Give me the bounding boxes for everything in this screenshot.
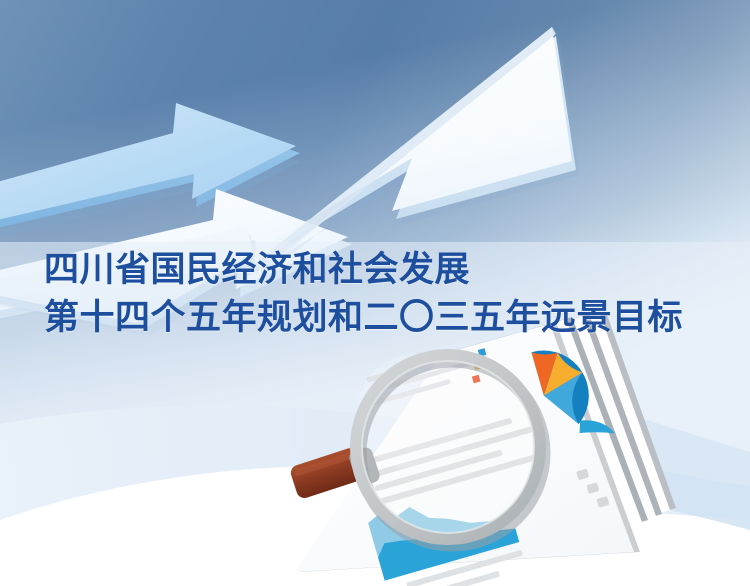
page-title: 四川省国民经济和社会发展 第十四个五年规划和二〇三五年远景目标 [44, 246, 734, 342]
title-line-2: 第十四个五年规划和二〇三五年远景目标 [44, 294, 734, 342]
title-line-1: 四川省国民经济和社会发展 [44, 246, 734, 294]
poster-canvas: 四川省国民经济和社会发展 第十四个五年规划和二〇三五年远景目标 [0, 0, 750, 586]
